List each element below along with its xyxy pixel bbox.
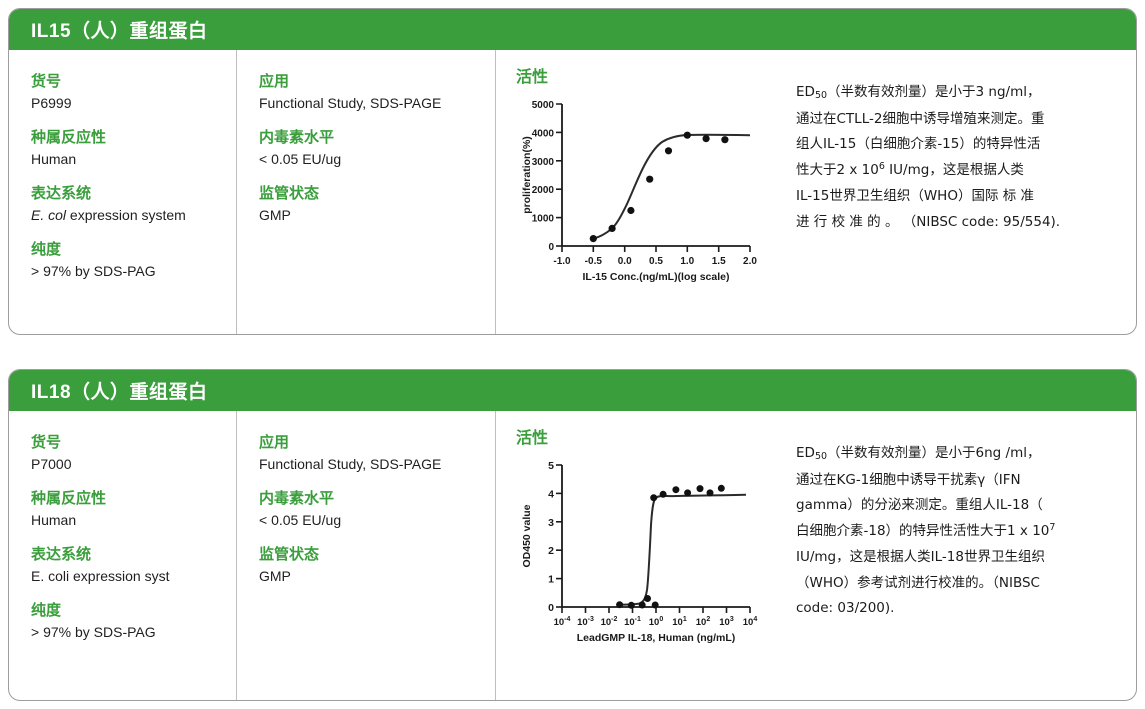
svg-text:5: 5: [548, 460, 554, 472]
spec-value: > 97% by SDS-PAG: [31, 623, 236, 642]
activity-description-column: ED50（半数有效剂量）是小于3 ng/ml， 通过在CTLL-2细胞中诱导增殖…: [770, 50, 1136, 334]
spec-value-rest: expression system: [66, 207, 186, 223]
spec-field: 内毒素水平 < 0.05 EU/ug: [259, 489, 495, 530]
spec-value: P7000: [31, 455, 236, 474]
spec-field: 表达系统 E. coli expression syst: [31, 545, 236, 586]
desc-line: 白细胞介素-18）的特异性活性大于1 x 107: [796, 519, 1114, 546]
svg-text:100: 100: [649, 616, 664, 628]
card-body: 货号 P7000 种属反应性 Human 表达系统 E. coli expres…: [9, 411, 1136, 700]
spec-value: > 97% by SDS-PAG: [31, 262, 236, 281]
desc-line: 进 行 校 准 的 。 （NIBSC code: 95/554).: [796, 210, 1114, 236]
spec-label: 应用: [259, 72, 495, 92]
spec-label: 种属反应性: [31, 489, 236, 509]
activity-chart-column: 活性: [495, 411, 770, 700]
activity-chart-column: 活性: [495, 50, 770, 334]
spec-field: 纯度 > 97% by SDS-PAG: [31, 601, 236, 642]
card-title: IL15（人）重组蛋白: [31, 16, 208, 43]
svg-text:2000: 2000: [532, 185, 555, 196]
desc-line: IL-15世界卫生组织（WHO）国际 标 准: [796, 184, 1114, 210]
spec-label: 监管状态: [259, 184, 495, 204]
spec-value-italic: E. col: [31, 207, 66, 223]
x-axis-label: LeadGMP IL-18, Human (ng/mL): [577, 632, 735, 644]
spec-field: 货号 P7000: [31, 433, 236, 474]
svg-text:0.0: 0.0: [618, 256, 632, 267]
card-body: 货号 P6999 种属反应性 Human 表达系统 E. col express…: [9, 50, 1136, 334]
desc-line: gamma）的分泌来测定。重组人IL-18（: [796, 493, 1114, 519]
page-root: IL15（人）重组蛋白 货号 P6999 种属反应性 Human 表达系统 E.…: [0, 0, 1145, 709]
spec-label: 纯度: [31, 601, 236, 621]
desc-line: ED50（半数有效剂量）是小于3 ng/ml，: [796, 80, 1114, 107]
y-axis-label: OD450 value: [521, 504, 533, 567]
spec-label: 表达系统: [31, 184, 236, 204]
svg-text:10-4: 10-4: [554, 616, 571, 628]
svg-text:-1.0: -1.0: [553, 256, 571, 267]
svg-text:1.5: 1.5: [712, 256, 726, 267]
spec-column-right: 应用 Functional Study, SDS-PAGE 内毒素水平 < 0.…: [236, 50, 495, 334]
activity-description: ED50（半数有效剂量）是小于6ng /ml， 通过在KG-1细胞中诱导干扰素γ…: [796, 441, 1114, 622]
spec-value: E. coli expression syst: [31, 567, 236, 586]
card-title: IL18（人）重组蛋白: [31, 377, 208, 404]
spec-value: < 0.05 EU/ug: [259, 511, 495, 530]
spec-value: Functional Study, SDS-PAGE: [259, 455, 495, 474]
svg-text:4000: 4000: [532, 128, 555, 139]
spec-label: 应用: [259, 433, 495, 453]
svg-text:1000: 1000: [532, 214, 555, 225]
svg-text:10-2: 10-2: [601, 616, 618, 628]
spec-value: GMP: [259, 567, 495, 586]
svg-text:0.5: 0.5: [649, 256, 663, 267]
svg-text:5000: 5000: [532, 100, 555, 111]
data-points: [616, 485, 725, 609]
spec-value: Human: [31, 511, 236, 530]
svg-text:10-1: 10-1: [624, 616, 641, 628]
activity-heading: 活性: [516, 429, 770, 449]
svg-text:1: 1: [548, 574, 554, 586]
svg-text:2: 2: [548, 545, 554, 557]
data-points: [590, 132, 729, 243]
spec-value: GMP: [259, 206, 495, 225]
spec-field: 表达系统 E. col expression system: [31, 184, 236, 225]
svg-text:104: 104: [743, 616, 758, 628]
svg-text:0: 0: [548, 602, 554, 614]
desc-line: 通过在KG-1细胞中诱导干扰素γ（IFN: [796, 468, 1114, 494]
spec-column-left: 货号 P6999 种属反应性 Human 表达系统 E. col express…: [9, 50, 236, 334]
spec-label: 内毒素水平: [259, 489, 495, 509]
spec-label: 货号: [31, 433, 236, 453]
spec-label: 种属反应性: [31, 128, 236, 148]
spec-column-right: 应用 Functional Study, SDS-PAGE 内毒素水平 < 0.…: [236, 411, 495, 700]
activity-chart-il18: 0 1 2 3 4 5: [510, 455, 768, 645]
activity-chart-il15: 0 1000 2000 3000 4000 5000: [510, 94, 768, 284]
spec-field: 监管状态 GMP: [259, 545, 495, 586]
desc-line: IU/mg，这是根据人类IL-18世界卫生组织: [796, 545, 1114, 571]
desc-line: 通过在CTLL-2细胞中诱导增殖来测定。重: [796, 107, 1114, 133]
chart-svg: 0 1000 2000 3000 4000 5000: [510, 94, 768, 284]
desc-line: ED50（半数有效剂量）是小于6ng /ml，: [796, 441, 1114, 468]
spec-label: 表达系统: [31, 545, 236, 565]
spec-column-left: 货号 P7000 种属反应性 Human 表达系统 E. coli expres…: [9, 411, 236, 700]
svg-text:3000: 3000: [532, 157, 555, 168]
svg-text:101: 101: [672, 616, 687, 628]
product-card-il15: IL15（人）重组蛋白 货号 P6999 种属反应性 Human 表达系统 E.…: [8, 8, 1137, 335]
activity-heading: 活性: [516, 68, 770, 88]
spec-field: 货号 P6999: [31, 72, 236, 113]
spec-value: Human: [31, 150, 236, 169]
spec-field: 种属反应性 Human: [31, 128, 236, 169]
svg-text:2.0: 2.0: [743, 256, 757, 267]
spec-field: 应用 Functional Study, SDS-PAGE: [259, 72, 495, 113]
spec-label: 纯度: [31, 240, 236, 260]
spec-label: 监管状态: [259, 545, 495, 565]
svg-text:10-3: 10-3: [577, 616, 594, 628]
spec-value: P6999: [31, 94, 236, 113]
svg-text:1.0: 1.0: [680, 256, 694, 267]
svg-text:3: 3: [548, 517, 554, 529]
svg-text:103: 103: [719, 616, 734, 628]
spec-field: 监管状态 GMP: [259, 184, 495, 225]
fit-curve: [620, 495, 746, 605]
spec-field: 纯度 > 97% by SDS-PAG: [31, 240, 236, 281]
card-header: IL18（人）重组蛋白: [9, 370, 1136, 411]
desc-line: 性大于2 x 106 IU/mg，这是根据人类: [796, 158, 1114, 185]
spec-value: E. col expression system: [31, 206, 236, 225]
svg-text:-0.5: -0.5: [585, 256, 603, 267]
spec-label: 货号: [31, 72, 236, 92]
desc-line: 组人IL-15（白细胞介素-15）的特异性活: [796, 132, 1114, 158]
product-card-il18: IL18（人）重组蛋白 货号 P7000 种属反应性 Human 表达系统 E.…: [8, 369, 1137, 701]
spec-field: 应用 Functional Study, SDS-PAGE: [259, 433, 495, 474]
activity-description: ED50（半数有效剂量）是小于3 ng/ml， 通过在CTLL-2细胞中诱导增殖…: [796, 80, 1114, 235]
card-header: IL15（人）重组蛋白: [9, 9, 1136, 50]
svg-text:102: 102: [696, 616, 711, 628]
svg-text:0: 0: [548, 242, 554, 253]
spec-field: 内毒素水平 < 0.05 EU/ug: [259, 128, 495, 169]
svg-text:4: 4: [548, 488, 554, 500]
desc-line: code: 03/200).: [796, 596, 1114, 622]
spec-value: < 0.05 EU/ug: [259, 150, 495, 169]
x-axis-label: IL-15 Conc.(ng/mL)(log scale): [582, 271, 729, 283]
spec-label: 内毒素水平: [259, 128, 495, 148]
spec-value: Functional Study, SDS-PAGE: [259, 94, 495, 113]
desc-line: （WHO）参考试剂进行校准的。（NIBSC: [796, 571, 1114, 597]
activity-description-column: ED50（半数有效剂量）是小于6ng /ml， 通过在KG-1细胞中诱导干扰素γ…: [770, 411, 1136, 700]
spec-field: 种属反应性 Human: [31, 489, 236, 530]
y-axis-label: proliferation(%): [521, 136, 533, 214]
chart-svg: 0 1 2 3 4 5: [510, 455, 768, 645]
